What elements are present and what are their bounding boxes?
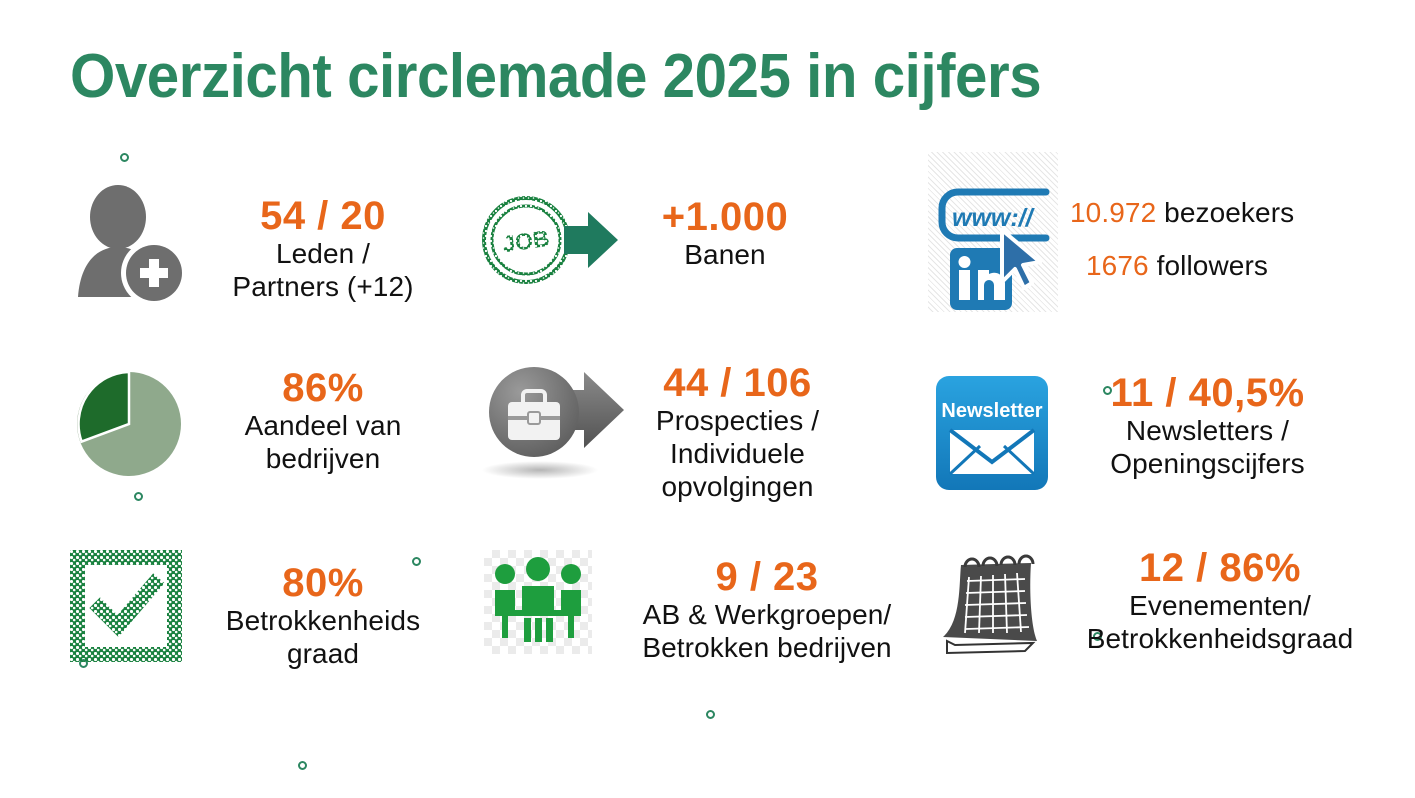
stat-prospects: 44 / 106 Prospecties / Individuele opvol… <box>478 360 845 503</box>
decorative-ring <box>134 492 143 501</box>
followers-row: 1676 followers <box>1070 239 1294 292</box>
stat-value: 86% <box>282 367 364 410</box>
stat-value: 11 / 40,5% <box>1110 372 1304 415</box>
meeting-people-icon <box>484 550 602 654</box>
stat-value: 9 / 23 <box>715 556 818 599</box>
visitors-word: bezoekers <box>1164 197 1294 228</box>
stat-label: Evenementen/ Betrokkenheidsgraad <box>1087 590 1354 656</box>
stat-members: 54 / 20 Leden / Partners (+12) <box>70 185 448 305</box>
website-linkedin-icon: www:// <box>928 152 1070 312</box>
stat-events: 12 / 86% Evenementen/ Betrokkenheidsgraa… <box>925 545 1385 665</box>
stat-label: Newsletters / Openingscijfers <box>1110 415 1304 481</box>
visitors-row: 10.972 bezoekers <box>1070 186 1294 239</box>
www-text: www:// <box>952 204 1036 232</box>
stat-web-social: www:// 10.972 bezoekers 1676 followers <box>928 152 1294 312</box>
decorative-ring <box>706 710 715 719</box>
stat-value: 12 / 86% <box>1139 547 1301 590</box>
decorative-ring <box>120 153 129 162</box>
stat-label: AB & Werkgroepen/ Betrokken bedrijven <box>642 599 891 665</box>
stat-jobs: JOB +1.000 Banen <box>480 190 825 290</box>
stat-label: Leden / Partners (+12) <box>232 238 413 304</box>
calendar-icon <box>925 545 1055 665</box>
decorative-ring <box>298 761 307 770</box>
pie-chart-icon <box>70 365 198 483</box>
newsletter-label: Newsletter <box>941 400 1042 422</box>
stat-engagement: 80% Betrokkenheids graad <box>70 550 448 671</box>
newsletter-envelope-icon: Newsletter <box>930 370 1080 496</box>
briefcase-arrow-icon <box>478 360 630 480</box>
stat-value: 44 / 106 <box>663 362 812 405</box>
stat-value: +1.000 <box>662 196 788 239</box>
stat-workgroups: 9 / 23 AB & Werkgroepen/ Betrokken bedri… <box>484 550 932 665</box>
followers-count: 1676 <box>1086 250 1149 281</box>
stat-company-share: 86% Aandeel van bedrijven <box>70 365 448 483</box>
stat-label: Betrokkenheids graad <box>226 605 420 671</box>
stamp-text: JOB <box>501 225 551 257</box>
stat-label: Aandeel van bedrijven <box>245 410 402 476</box>
stat-value: 54 / 20 <box>260 195 386 238</box>
green-checkbox-icon <box>70 550 198 662</box>
person-plus-icon <box>70 185 198 305</box>
job-stamp-arrow-icon: JOB <box>480 190 625 290</box>
followers-word: followers <box>1157 250 1268 281</box>
stat-newsletters: Newsletter 11 / 40,5% Newsletters / Open… <box>930 370 1335 496</box>
stat-label: Prospecties / Individuele opvolgingen <box>656 405 819 503</box>
visitors-count: 10.972 <box>1070 197 1156 228</box>
page-title: Overzicht circlemade 2025 in cijfers <box>70 46 1041 108</box>
stat-label: Banen <box>684 239 765 272</box>
stat-value: 80% <box>282 562 364 605</box>
